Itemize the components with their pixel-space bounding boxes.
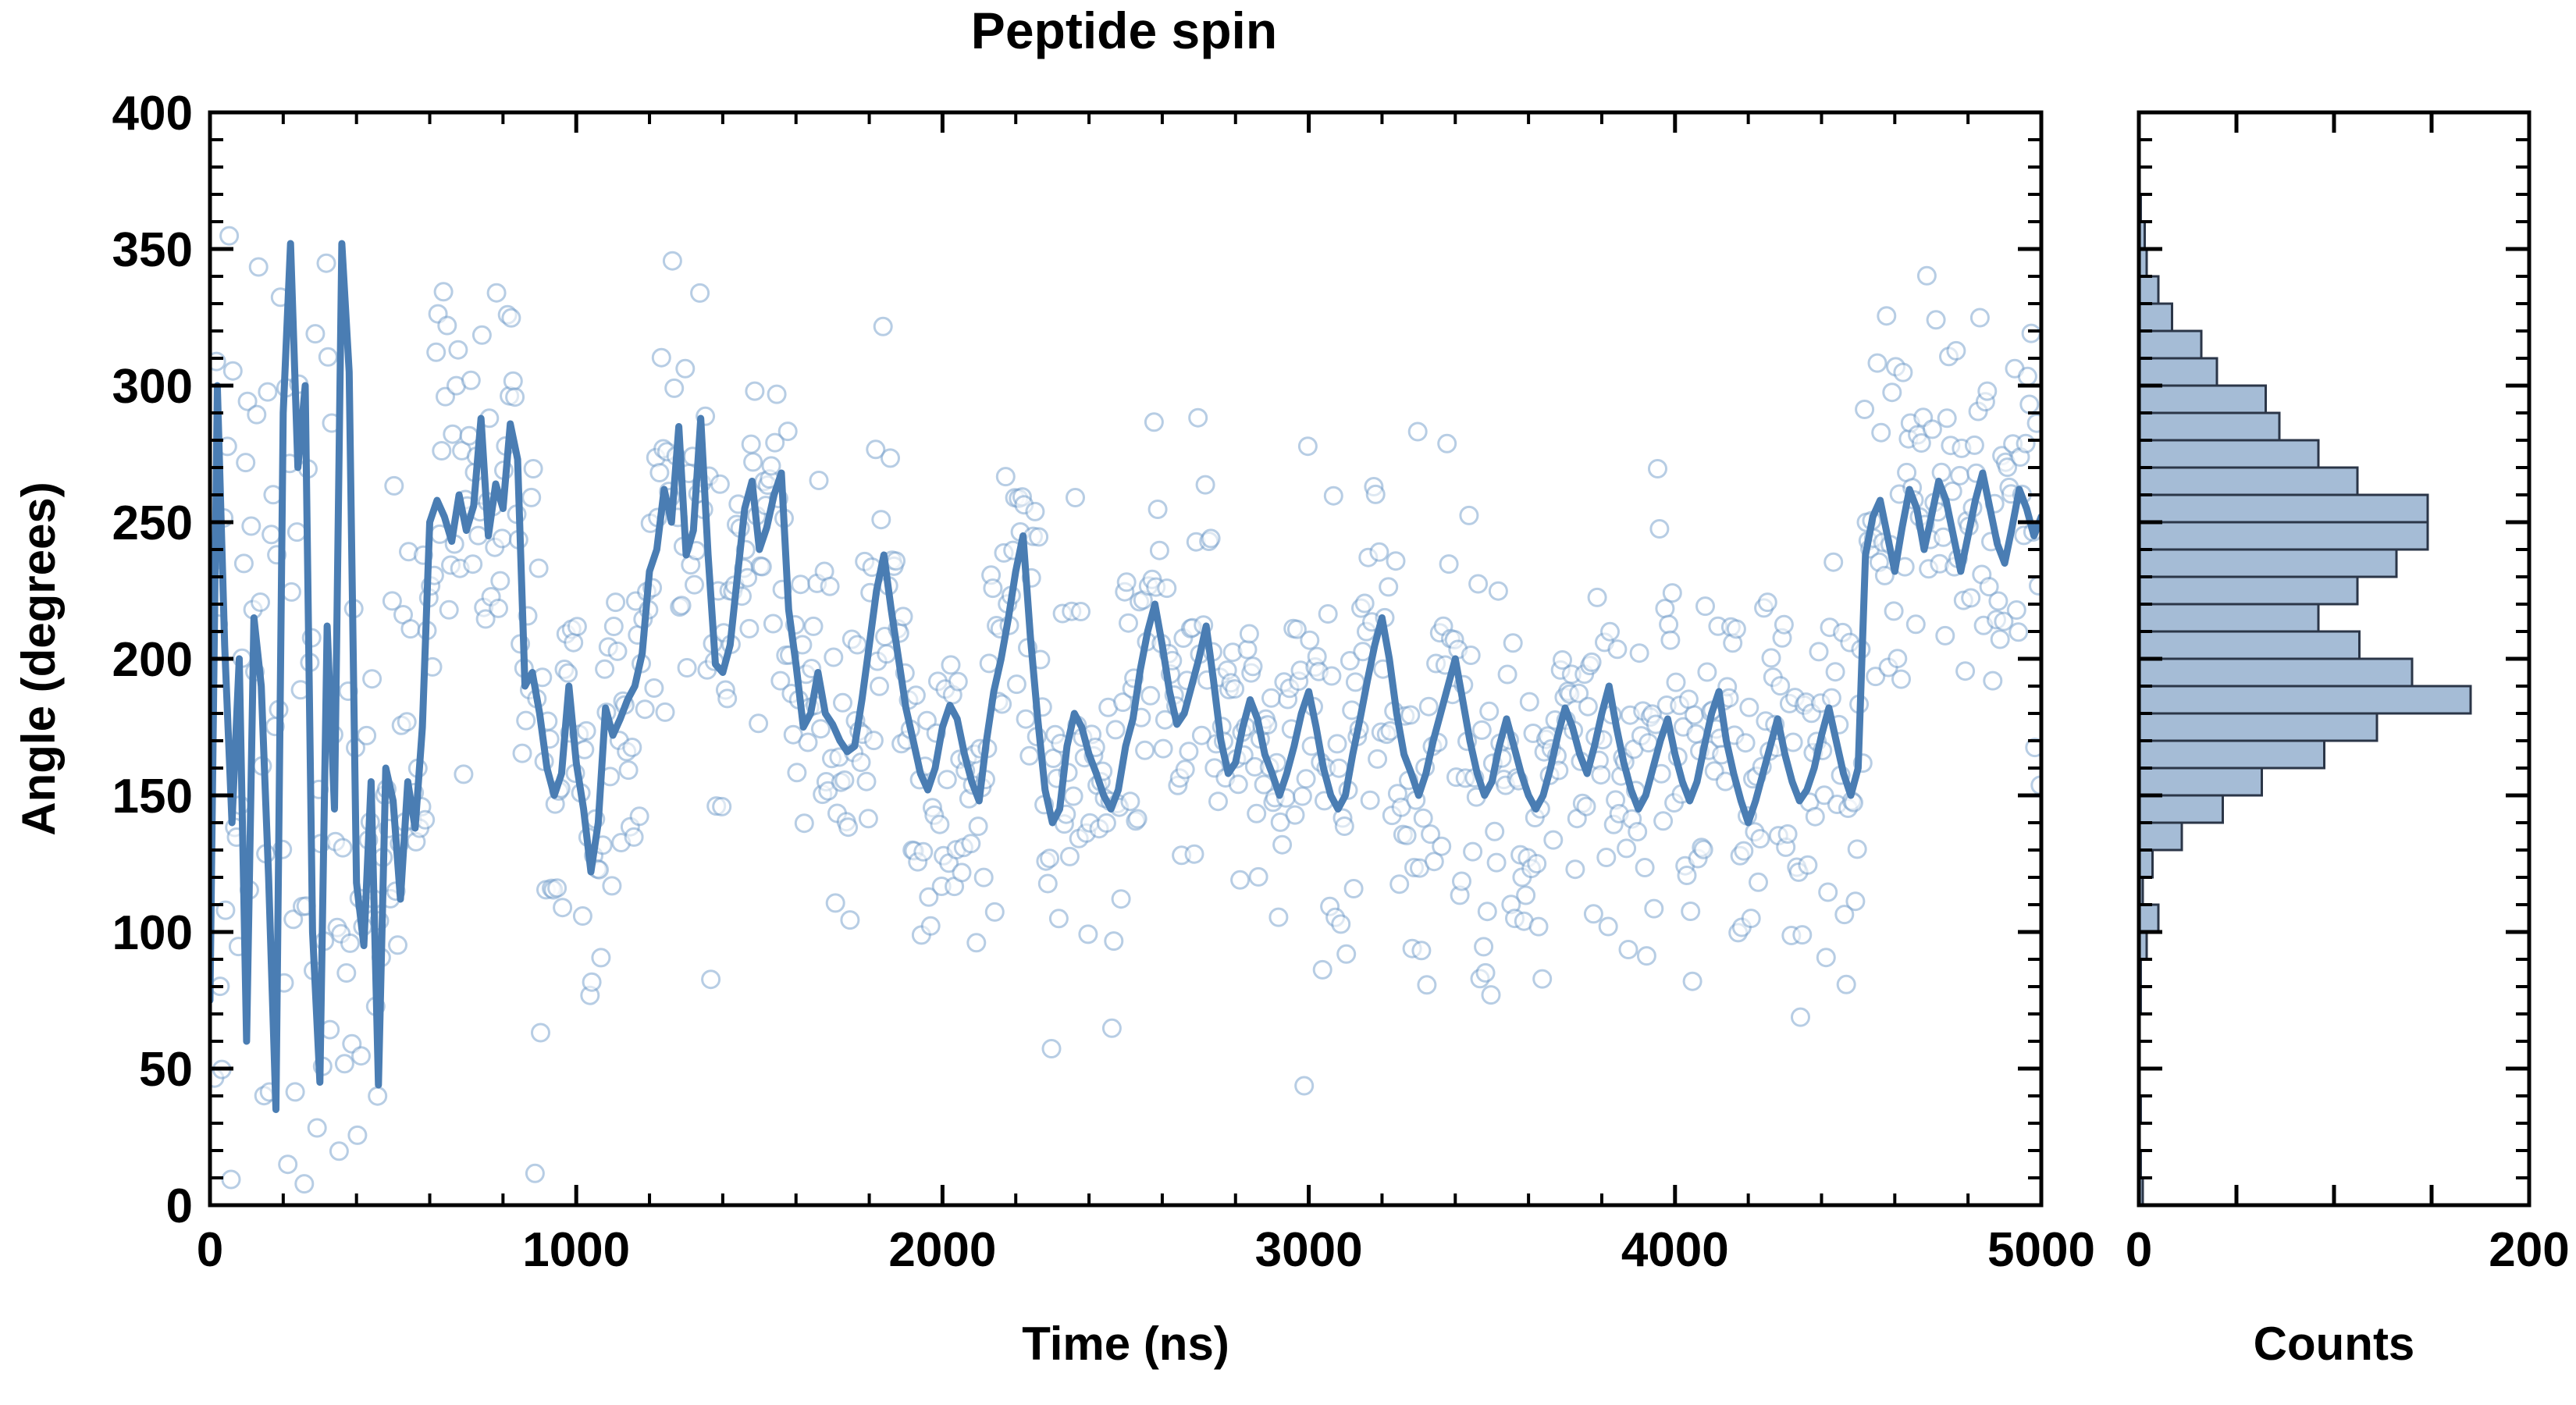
scatter-point [1440, 556, 1457, 573]
scatter-point [1338, 945, 1355, 962]
scatter-point [1118, 574, 1135, 591]
scatter-point [1202, 530, 1219, 547]
scatter-point [1067, 489, 1084, 507]
scatter-point [764, 615, 781, 632]
scatter-point [279, 1156, 297, 1173]
histogram-bar [2139, 768, 2262, 795]
scatter-point [1244, 658, 1261, 675]
scatter-point [462, 372, 479, 389]
scatter-point [949, 673, 966, 690]
scatter-point [692, 284, 709, 301]
counts-tick-label: 200 [2489, 1223, 2569, 1277]
scatter-point [250, 258, 267, 276]
scatter-point [1413, 942, 1430, 959]
scatter-point [1823, 689, 1840, 706]
scatter-point [1050, 910, 1067, 927]
scatter-point [922, 917, 939, 934]
scatter-point [1649, 461, 1667, 478]
scatter-point [673, 597, 690, 614]
scatter-point [841, 912, 859, 929]
scatter-point [1361, 791, 1379, 809]
y-tick-label: 300 [112, 360, 193, 414]
scatter-point [719, 690, 736, 707]
scatter-point [907, 687, 924, 704]
histogram-bar [2139, 823, 2182, 850]
scatter-point [1684, 973, 1701, 990]
scatter-point [334, 839, 351, 856]
scatter-point [1232, 871, 1249, 888]
scatter-point [888, 553, 905, 570]
scatter-point [221, 227, 238, 244]
scatter-point [493, 530, 511, 547]
plot-svg: Peptide spin 010002000300040005000050100… [0, 0, 2576, 1405]
histogram-bar [2139, 795, 2223, 823]
scatter-point [931, 816, 948, 833]
scatter-point [428, 343, 445, 361]
x-axis-label: Time (ns) [1022, 1318, 1229, 1370]
scatter-point [1885, 603, 1902, 620]
chart-title: Peptide spin [971, 2, 1277, 59]
scatter-point [596, 660, 614, 678]
scatter-point [1856, 401, 1873, 418]
x-tick-label: 3000 [1255, 1223, 1363, 1277]
scatter-point [1486, 823, 1503, 840]
scatter-point [656, 703, 674, 720]
scatter-point [1583, 653, 1600, 670]
scatter-point [1297, 770, 1315, 788]
scatter-point [1662, 631, 1679, 649]
scatter-point [1952, 467, 1969, 484]
scatter-point [307, 325, 324, 343]
scatter-point [252, 594, 269, 611]
scatter-point [1190, 409, 1207, 426]
scatter-point [224, 362, 241, 379]
scatter-point [1158, 580, 1176, 597]
scatter-point [968, 934, 985, 951]
histogram-bar [2139, 550, 2396, 577]
scatter-point [1371, 543, 1388, 560]
histogram-bar [2139, 413, 2279, 440]
scatter-point [259, 383, 276, 400]
scatter-point [609, 642, 626, 660]
scatter-point [390, 937, 407, 954]
scatter-point [1735, 842, 1752, 859]
scatter-point [746, 382, 763, 400]
scatter-point [1137, 742, 1154, 759]
scatter-point [568, 618, 585, 635]
scatter-point [461, 427, 478, 444]
scatter-point [1727, 621, 1745, 638]
scatter-point [1332, 916, 1350, 933]
scatter-point [470, 527, 487, 544]
scatter-point [1369, 750, 1386, 767]
scatter-point [1475, 938, 1493, 955]
scatter-point [386, 477, 403, 494]
scatter-point [1041, 850, 1059, 867]
scatter-point [2017, 435, 2034, 452]
scatter-point [492, 572, 509, 589]
scatter-point [532, 1024, 550, 1041]
scatter-point [1433, 838, 1450, 855]
scatter-point [865, 732, 882, 749]
scatter-point [1286, 806, 1304, 823]
scatter-point [342, 934, 359, 951]
scatter-point [812, 720, 829, 738]
scatter-point [1699, 663, 1716, 681]
scatter-point [248, 406, 265, 423]
scatter-point [1296, 1077, 1313, 1094]
scatter-point [975, 869, 992, 886]
scatter-point [1149, 501, 1166, 518]
histogram-bar [2139, 304, 2172, 331]
scatter-point [1129, 810, 1146, 827]
scatter-point [1299, 438, 1316, 455]
scatter-point [1008, 676, 1025, 693]
scatter-point [1478, 903, 1496, 920]
scatter-point [1609, 641, 1626, 658]
scatter-point [805, 617, 822, 635]
scatter-point [1210, 793, 1227, 810]
scatter-point [1878, 308, 1895, 325]
y-tick-label: 50 [139, 1043, 193, 1097]
scatter-point [1772, 678, 1789, 695]
scatter-point [1517, 887, 1535, 904]
scatter-point [1629, 823, 1646, 841]
scatter-point [1763, 649, 1780, 667]
scatter-point [677, 360, 694, 377]
y-tick-label: 250 [112, 496, 193, 550]
scatter-point [1984, 672, 2001, 689]
scatter-point [1638, 948, 1655, 965]
scatter-point [1685, 706, 1703, 724]
scatter-point [607, 594, 624, 611]
scatter-point [1579, 698, 1596, 715]
scatter-point [1323, 667, 1340, 685]
scatter-point [799, 734, 817, 751]
histogram-bar [2139, 331, 2201, 358]
scatter-point [810, 472, 827, 489]
scatter-point [583, 973, 600, 991]
scatter-point [296, 1176, 313, 1193]
scatter-point [369, 1087, 386, 1104]
scatter-point [1817, 949, 1834, 966]
scatter-point [1618, 840, 1635, 857]
scatter-point [1142, 687, 1159, 704]
scatter-point [1667, 674, 1685, 691]
scatter-point [444, 425, 461, 443]
x-tick-label: 1000 [522, 1223, 630, 1277]
scatter-point [565, 634, 582, 651]
scatter-point [792, 576, 809, 593]
y-tick-label: 0 [166, 1179, 193, 1233]
scatter-point [1345, 880, 1362, 898]
scatter-point [624, 739, 641, 756]
scatter-point [286, 1083, 304, 1101]
scatter-point [1319, 606, 1336, 623]
y-tick-label: 200 [112, 633, 193, 687]
scatter-point [473, 326, 490, 343]
scatter-point [1105, 933, 1123, 950]
scatter-point [882, 450, 899, 467]
scatter-point [871, 678, 888, 695]
figure-root: Peptide spin 010002000300040005000050100… [0, 0, 2576, 1405]
histogram-bar [2139, 604, 2318, 631]
scatter-point [1080, 926, 1097, 943]
scatter-point [1380, 578, 1397, 596]
scatter-point [1893, 670, 1910, 688]
scatter-point [1660, 616, 1678, 633]
scatter-point [1799, 856, 1816, 873]
scatter-point [625, 828, 642, 845]
scatter-point [1827, 663, 1844, 681]
scatter-point [1112, 891, 1130, 908]
scatter-point [1274, 836, 1291, 853]
scatter-point [2019, 368, 2036, 385]
scatter-point [1293, 788, 1311, 805]
scatter-point [526, 1165, 543, 1182]
scatter-point [962, 835, 980, 852]
scatter-point [874, 318, 891, 335]
scatter-point [1489, 582, 1507, 599]
scatter-point [1957, 663, 1974, 680]
scatter-point [620, 762, 637, 779]
scatter-point [1589, 589, 1606, 606]
histogram-bar [2139, 276, 2158, 304]
scatter-point [834, 694, 852, 711]
scatter-point [402, 621, 419, 638]
counts-tick-label: 0 [2126, 1223, 2152, 1277]
scatter-point [2008, 602, 2025, 619]
scatter-point [1155, 740, 1172, 757]
scatter-point [1923, 421, 1941, 438]
scatter-point [560, 664, 577, 681]
scatter-point [827, 895, 844, 912]
scatter-point [1806, 808, 1823, 825]
scatter-point [651, 464, 668, 482]
scatter-point [1418, 976, 1436, 994]
scatter-point [1239, 641, 1256, 658]
scatter-point [1792, 1008, 1809, 1026]
scatter-point [1122, 793, 1139, 810]
scatter-point [1682, 903, 1699, 920]
scatter-point [750, 715, 767, 732]
scatter-point [984, 580, 1002, 597]
scatter-point [970, 818, 987, 835]
scatter-point [1598, 849, 1615, 866]
scatter-point [1488, 854, 1505, 871]
scatter-point [1356, 595, 1373, 612]
scatter-point [514, 745, 531, 762]
scatter-point [263, 526, 280, 543]
scatter-point [330, 1143, 347, 1160]
histogram-bar [2139, 495, 2428, 522]
scatter-point [1314, 961, 1331, 978]
scatter-point [678, 660, 696, 677]
scatter-point [1347, 674, 1364, 691]
scatter-point [1336, 818, 1353, 835]
scatter-point [1585, 905, 1602, 923]
scatter-point [288, 524, 305, 541]
scatter-point [353, 1048, 370, 1065]
scatter-point [440, 601, 457, 618]
scatter-point [398, 713, 415, 731]
scatter-point [1402, 706, 1419, 724]
scatter-point [1889, 650, 1906, 667]
scatter-point [1248, 805, 1265, 822]
scatter-point [1176, 761, 1194, 778]
scatter-point [525, 461, 542, 478]
scatter-point [858, 773, 875, 790]
y-tick-label: 350 [112, 223, 193, 277]
scatter-point [938, 771, 955, 788]
x-tick-label: 5000 [1987, 1223, 2095, 1277]
scatter-point [1145, 414, 1162, 431]
scatter-point [1270, 909, 1287, 926]
scatter-point [1026, 503, 1044, 520]
histogram-bar [2139, 741, 2325, 768]
scatter-point [1948, 342, 1965, 359]
scatter-point [504, 372, 521, 389]
scatter-point [1636, 859, 1653, 877]
scatter-point [1990, 592, 2007, 610]
scatter-point [592, 949, 610, 966]
scatter-point [1567, 861, 1584, 878]
scatter-point [1065, 788, 1082, 805]
scatter-point [1545, 831, 1562, 848]
histogram-bar [2139, 468, 2357, 495]
scatter-point [895, 608, 912, 625]
scatter-point [455, 766, 472, 783]
scatter-point [1876, 567, 1893, 584]
scatter-point [1938, 410, 1955, 427]
histogram-bar [2139, 522, 2428, 550]
scatter-point [1759, 594, 1776, 611]
histogram-bar [2139, 358, 2217, 386]
scatter-point [1263, 689, 1280, 706]
scatter-point [1655, 813, 1672, 830]
scatter-point [1599, 918, 1617, 935]
scatter-point [1409, 423, 1426, 440]
scatter-point [507, 389, 524, 406]
scatter-point [1504, 635, 1521, 652]
scatter-point [1820, 884, 1837, 901]
scatter-point [768, 386, 785, 403]
scatter-point [1098, 814, 1115, 831]
scatter-point [1325, 487, 1342, 504]
scatter-point [1021, 747, 1038, 764]
scatter-point [1907, 616, 1924, 633]
scatter-point [488, 284, 505, 301]
scatter-point [1461, 507, 1478, 524]
scatter-point [942, 656, 959, 674]
scatter-point [1414, 809, 1432, 827]
scatter-point [636, 701, 653, 718]
scatter-point [318, 254, 335, 272]
scatter-point [646, 680, 663, 697]
scatter-point [578, 722, 595, 739]
scatter-point [1663, 585, 1681, 602]
scatter-point [1775, 616, 1792, 633]
scatter-point [435, 283, 452, 301]
scatter-point [1521, 693, 1538, 710]
scatter-point [1884, 384, 1901, 401]
y-tick-label: 150 [112, 770, 193, 823]
scatter-point [1528, 855, 1546, 873]
scatter-point [1741, 699, 1758, 716]
scatter-point [686, 576, 703, 593]
scatter-point [1869, 354, 1886, 372]
scatter-point [1043, 1040, 1060, 1058]
counts-axis-label: Counts [2254, 1318, 2415, 1370]
scatter-point [2021, 396, 2038, 413]
scatter-point [1039, 875, 1056, 892]
scatter-point [840, 819, 857, 836]
scatter-point [1367, 486, 1384, 503]
scatter-point [859, 810, 877, 827]
scatter-point [283, 583, 300, 600]
scatter-point [763, 457, 780, 475]
scatter-point [549, 880, 566, 897]
scatter-point [464, 556, 482, 573]
scatter-point [1462, 647, 1479, 664]
histogram-bar [2139, 577, 2357, 604]
scatter-point [873, 511, 890, 528]
scatter-point [1439, 435, 1456, 452]
scatter-point [1742, 910, 1759, 927]
scatter-point [1226, 681, 1244, 698]
scatter-point [953, 864, 970, 881]
scatter-point [433, 443, 450, 460]
scatter-point [1482, 987, 1500, 1004]
scatter-point [439, 317, 456, 334]
scatter-point [1918, 267, 1935, 284]
scatter-point [1620, 941, 1637, 959]
scatter-point [1848, 841, 1866, 858]
scatter-point [554, 899, 571, 916]
scatter-point [490, 599, 507, 617]
scatter-point [1017, 710, 1034, 727]
scatter-point [1838, 976, 1855, 993]
scatter-point [222, 1171, 240, 1188]
scatter-point [852, 754, 870, 771]
histogram-bar [2139, 905, 2158, 932]
scatter-point [1695, 841, 1712, 858]
scatter-point [1481, 702, 1498, 720]
scatter-point [1752, 831, 1769, 848]
scatter-point [1895, 364, 1912, 381]
y-tick-label: 400 [112, 87, 193, 140]
scatter-point [518, 712, 535, 729]
scatter-point [1651, 521, 1668, 538]
scatter-point [235, 555, 252, 572]
scatter-point [1499, 666, 1516, 683]
scatter-point [713, 798, 731, 815]
scatter-point [1387, 553, 1404, 570]
scatter-point [1646, 900, 1663, 917]
scatter-point [1688, 725, 1705, 742]
scatter-point [742, 436, 760, 453]
scatter-point [1873, 424, 1890, 441]
scatter-point [825, 649, 842, 666]
scatter-point [1151, 542, 1168, 559]
scatter-point [664, 252, 681, 269]
scatter-point [2023, 325, 2040, 342]
scatter-point [450, 341, 467, 358]
scatter-point [1250, 868, 1267, 885]
scatter-point [915, 843, 932, 860]
scatter-point [1061, 848, 1078, 865]
scatter-point [1971, 309, 1988, 326]
